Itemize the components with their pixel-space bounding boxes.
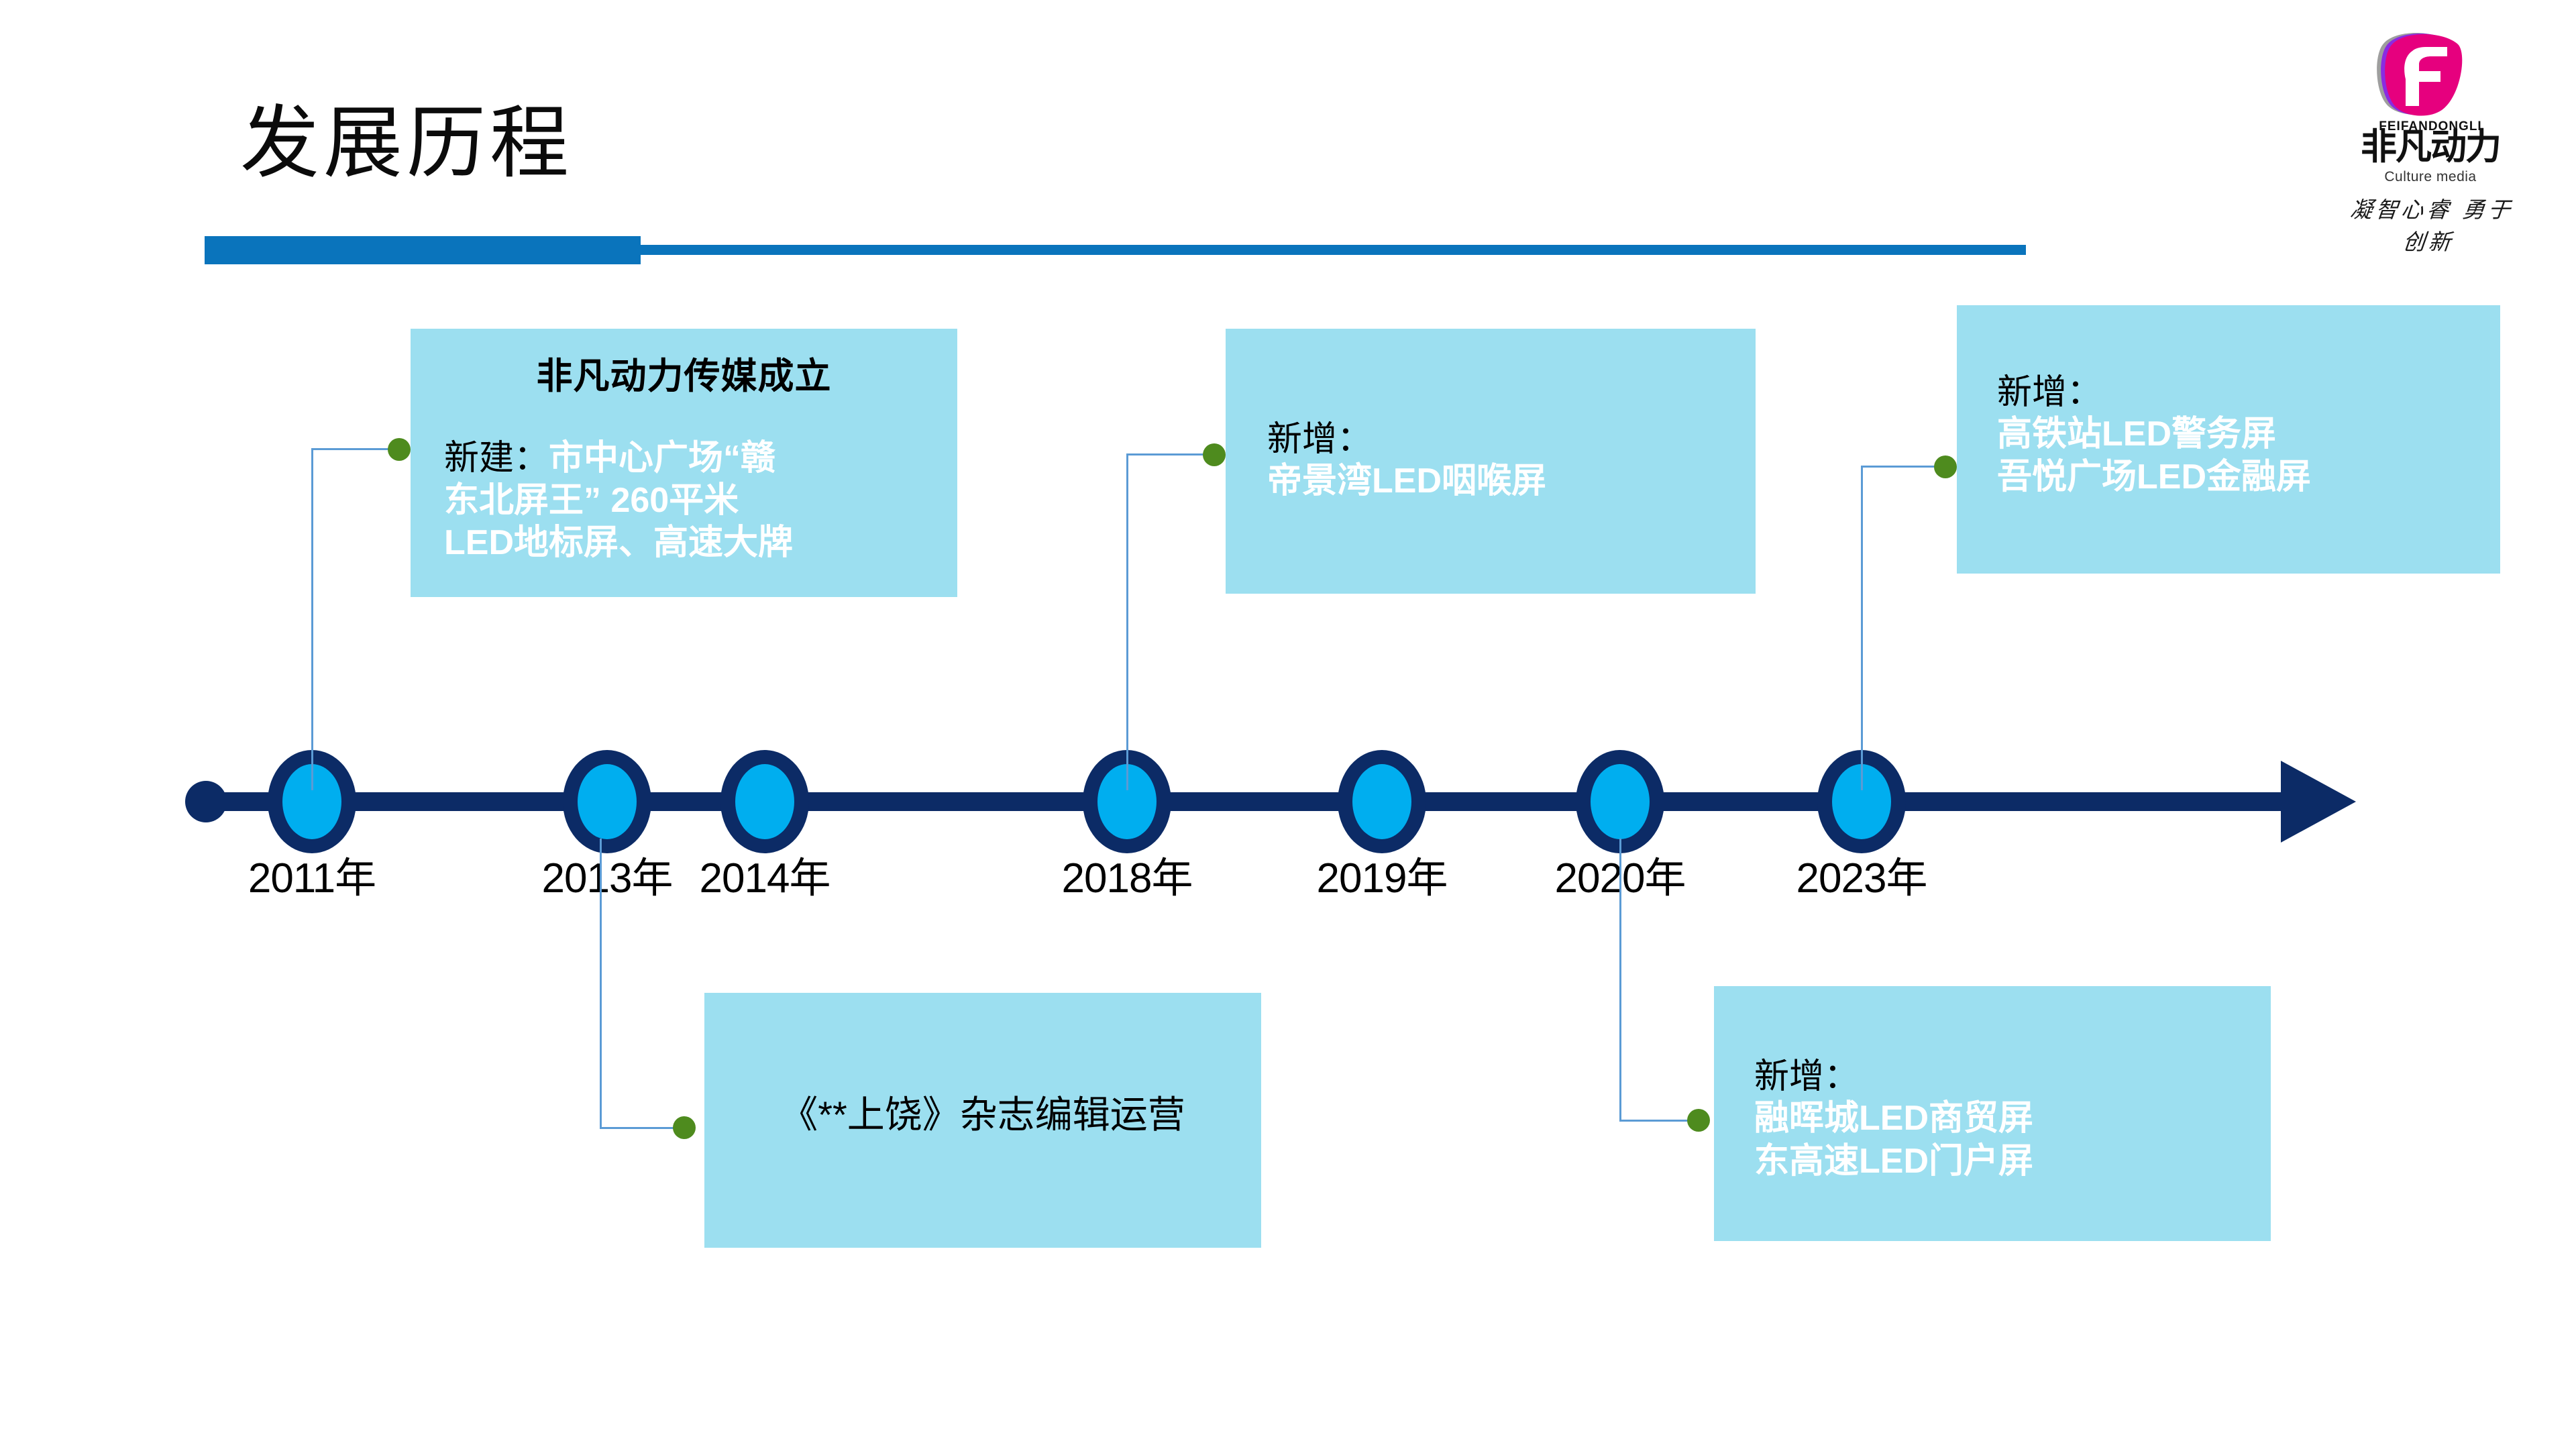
- card-2011-body-line-2: 东北屏王” 260平米: [444, 480, 941, 522]
- connector-dot-2018: [1203, 443, 1226, 466]
- year-label-2013: 2013年: [542, 844, 673, 904]
- connector-2013-horizontal: [600, 1127, 684, 1129]
- card-2023-lead: 新增：: [1997, 372, 2493, 413]
- card-shadow-2023: [1939, 574, 2502, 614]
- card-2023-body-line-2: 吾悦广场LED金融屏: [1997, 456, 2493, 498]
- year-label-2014: 2014年: [700, 844, 830, 904]
- logo-tagline: 凝智心睿 勇于创新: [2337, 192, 2524, 256]
- year-label-2023: 2023年: [1796, 844, 1927, 904]
- company-logo: FEIFANDONGLI 非凡动力 Culture media 凝智心睿 勇于创…: [2340, 27, 2521, 221]
- card-2018[interactable]: 新增： 帝景湾LED咽喉屏: [1226, 329, 1756, 594]
- connector-2013-vertical: [600, 839, 602, 1128]
- connector-dot-2023: [1934, 455, 1957, 478]
- card-2020-body-line-2: 东高速LED门户屏: [1754, 1140, 2264, 1183]
- card-2020[interactable]: 新增： 融晖城LED商贸屏 东高速LED门户屏: [1714, 986, 2271, 1241]
- card-2020-body-line-1: 融晖城LED商贸屏: [1754, 1097, 2264, 1140]
- logo-name-cn: 非凡动力: [2340, 129, 2521, 165]
- card-2011-body-line-1: 市中心广场“赣: [549, 439, 775, 478]
- card-2011-body-line-3: LED地标屏、高速大牌: [444, 522, 941, 564]
- axis-start-dot: [185, 781, 227, 822]
- logo-name-en: Culture media: [2340, 169, 2521, 185]
- year-label-2018: 2018年: [1062, 844, 1193, 904]
- connector-2018-vertical: [1126, 453, 1128, 790]
- logo-f-mark-icon: [2372, 27, 2473, 119]
- connector-dot-2020: [1687, 1109, 1710, 1132]
- card-2018-lead: 新增：: [1267, 419, 1743, 460]
- card-2011[interactable]: 非凡动力传媒成立 新建：市中心广场“赣 东北屏王” 260平米 LED地标屏、高…: [411, 329, 957, 597]
- connector-2023-horizontal: [1861, 466, 1945, 468]
- year-label-2019: 2019年: [1317, 844, 1448, 904]
- card-2011-heading: 非凡动力传媒成立: [411, 357, 957, 396]
- card-shadow-2020: [1697, 1238, 2277, 1278]
- card-2020-lead: 新增：: [1754, 1057, 2264, 1097]
- timeline-arrow-icon: [2281, 761, 2356, 843]
- card-2023-body-line-1: 高铁站LED警务屏: [1997, 413, 2493, 455]
- card-shadow-2013: [688, 1244, 1271, 1285]
- card-2018-body-line-1: 帝景湾LED咽喉屏: [1267, 460, 1743, 502]
- card-shadow-2018: [1207, 590, 1758, 631]
- card-shadow-2011: [392, 594, 966, 634]
- connector-dot-2011: [388, 438, 411, 461]
- year-label-2011: 2011年: [248, 844, 376, 904]
- card-2013[interactable]: 《**上饶》杂志编辑运营: [704, 993, 1261, 1248]
- title-underline-block: [205, 236, 641, 264]
- slide-canvas: 发展历程 FEIFANDONGLI 非凡动力 Culture media 凝智心…: [0, 0, 2576, 1449]
- connector-2023-vertical: [1861, 466, 1863, 790]
- page-title: 发展历程: [240, 101, 573, 188]
- connector-2011-vertical: [311, 448, 313, 790]
- card-2011-lead: 新建：: [444, 439, 549, 478]
- timeline-node-2014[interactable]: [720, 750, 809, 853]
- timeline-node-2020[interactable]: [1576, 750, 1664, 853]
- timeline-node-2019[interactable]: [1338, 750, 1426, 853]
- timeline-node-2013[interactable]: [563, 750, 651, 853]
- timeline-axis: [221, 792, 2294, 811]
- title-underline-rule: [641, 245, 2026, 255]
- connector-2020-vertical: [1619, 839, 1621, 1120]
- card-2023[interactable]: 新增： 高铁站LED警务屏 吾悦广场LED金融屏: [1957, 305, 2500, 574]
- card-2013-text: 《**上饶》杂志编辑运营: [704, 1092, 1261, 1137]
- connector-dot-2013: [673, 1116, 696, 1139]
